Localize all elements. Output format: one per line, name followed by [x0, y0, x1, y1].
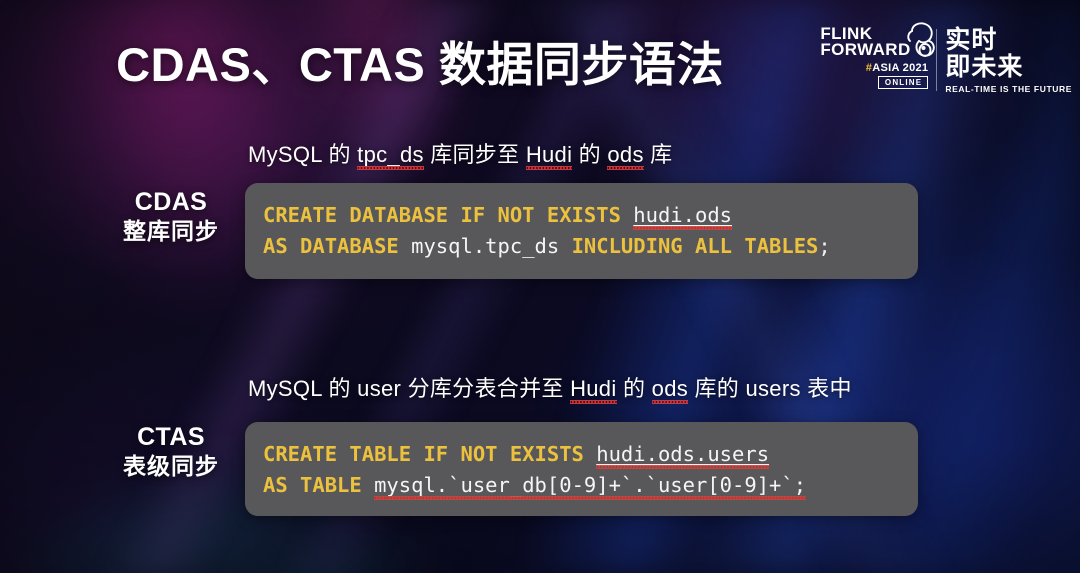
caption-cdas-seg-5: ods [607, 142, 643, 167]
code-keyword: INCLUDING ALL TABLES [572, 234, 819, 258]
code-line-ctas-1: CREATE TABLE IF NOT EXISTS hudi.ods.user… [263, 439, 900, 470]
code-identifier-hudi-ods: hudi.ods [633, 203, 732, 227]
logo-chinese-block: 实时 即未来 REAL-TIME IS THE FUTURE [945, 26, 1072, 94]
code-identifier-mysql-userdb: mysql.`user_db[0-9]+`.`user[0-9]+`; [374, 473, 806, 497]
logo-cn-line1: 实时 [945, 27, 1072, 54]
logo-online-badge-wrap: ONLINE [820, 76, 928, 89]
caption-cdas-seg-6: 库 [644, 142, 673, 167]
caption-ctas-seg-3: ods [652, 376, 688, 401]
caption-ctas-seg-4: 库的 users 表中 [688, 376, 852, 401]
flink-forward-logo: FLINK FORWARD #ASIA 2021 ONLINE [820, 26, 1072, 98]
code-line-cdas-1: CREATE DATABASE IF NOT EXISTS hudi.ods [263, 200, 900, 231]
caption-ctas-seg-0: MySQL 的 user 分库分表合并至 [248, 376, 570, 401]
caption-cdas: MySQL 的 tpc_ds 库同步至 Hudi 的 ods 库 [248, 137, 672, 169]
code-block-ctas: CREATE TABLE IF NOT EXISTS hudi.ods.user… [245, 422, 918, 516]
caption-ctas-seg-2: 的 [617, 376, 652, 401]
code-keyword: AS TABLE [263, 473, 374, 497]
page-title: CDAS、CTAS 数据同步语法 [0, 26, 840, 95]
code-identifier-mysql-tpcds: mysql.tpc_ds [411, 234, 571, 258]
side-label-cdas-en: CDAS [96, 187, 246, 217]
code-line-cdas-2: AS DATABASE mysql.tpc_ds INCLUDING ALL T… [263, 231, 900, 262]
slide-root: CDAS、CTAS 数据同步语法 FLINK FORWARD #ASIA 202… [0, 0, 1080, 573]
logo-cn-line2: 即未来 [945, 54, 1072, 81]
side-label-ctas-en: CTAS [96, 422, 246, 452]
code-block-cdas: CREATE DATABASE IF NOT EXISTS hudi.ods A… [245, 183, 918, 279]
caption-cdas-seg-0: MySQL 的 [248, 142, 357, 167]
code-keyword: CREATE TABLE IF NOT EXISTS [263, 442, 596, 466]
code-identifier-hudi-ods-users: hudi.ods.users [596, 442, 769, 466]
side-label-ctas-cn: 表级同步 [96, 452, 246, 481]
caption-cdas-seg-1: tpc_ds [357, 142, 424, 167]
caption-ctas: MySQL 的 user 分库分表合并至 Hudi 的 ods 库的 users… [248, 371, 852, 403]
side-label-cdas-cn: 整库同步 [96, 217, 246, 246]
code-line-ctas-2: AS TABLE mysql.`user_db[0-9]+`.`user[0-9… [263, 470, 900, 501]
caption-ctas-seg-1: Hudi [570, 376, 616, 401]
caption-cdas-seg-4: 的 [572, 142, 607, 167]
squirrel-icon [898, 20, 944, 71]
side-label-ctas: CTAS 表级同步 [96, 422, 246, 481]
code-keyword: CREATE DATABASE IF NOT EXISTS [263, 203, 633, 227]
code-keyword: AS DATABASE [263, 234, 411, 258]
caption-cdas-seg-3: Hudi [526, 142, 572, 167]
logo-online-badge: ONLINE [878, 76, 928, 89]
code-semicolon: ; [818, 234, 830, 258]
caption-cdas-seg-2: 库同步至 [424, 142, 526, 167]
logo-wordmark-block: FLINK FORWARD #ASIA 2021 ONLINE [820, 26, 928, 89]
side-label-cdas: CDAS 整库同步 [96, 187, 246, 246]
logo-tagline: REAL-TIME IS THE FUTURE [945, 84, 1072, 94]
